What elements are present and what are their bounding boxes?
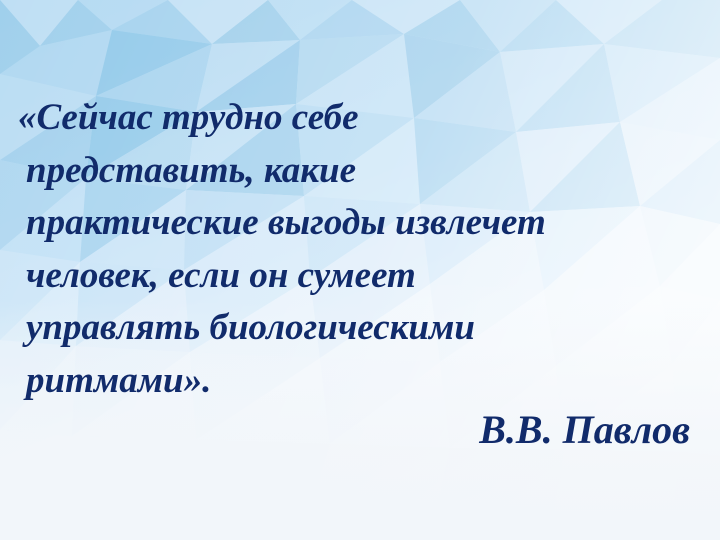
quote-line-1: «Сейчас трудно себе: [18, 92, 700, 145]
quote-line-6: ритмами».: [18, 355, 700, 408]
quote-line-3: практические выгоды извлечет: [18, 197, 700, 250]
quote-text-block: «Сейчас трудно себе представить, какие п…: [0, 92, 700, 407]
slide-content: «Сейчас трудно себе представить, какие п…: [0, 0, 720, 540]
slide-canvas: «Сейчас трудно себе представить, какие п…: [0, 0, 720, 540]
quote-line-4: человек, если он сумеет: [18, 250, 700, 303]
quote-line-5: управлять биологическими: [18, 302, 700, 355]
quote-line-2: представить, какие: [18, 145, 700, 198]
quote-attribution: В.В. Павлов: [0, 404, 690, 456]
